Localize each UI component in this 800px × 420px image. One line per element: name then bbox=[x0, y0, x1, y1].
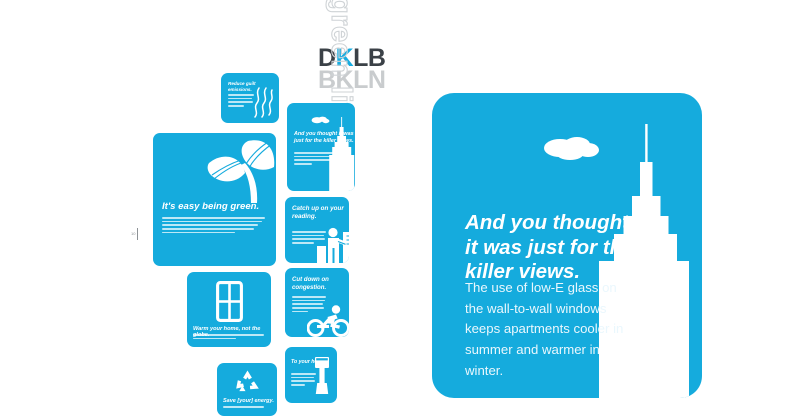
page-edge-marker: 10 bbox=[131, 228, 140, 240]
hero-body: The use of low-E glass on the wall-to-wa… bbox=[465, 278, 625, 382]
squiggle-emissions-icon bbox=[252, 84, 274, 118]
toothbrush-icon bbox=[314, 355, 330, 395]
window-icon bbox=[216, 281, 243, 322]
tile-easy-being-green[interactable]: It's easy being green. bbox=[153, 133, 276, 266]
leaf-icon bbox=[204, 133, 276, 203]
tile-save-your-energy[interactable]: Save [your] energy. bbox=[217, 363, 277, 416]
tile-body bbox=[223, 406, 271, 410]
tile-reduce-guilt-emissions[interactable]: Reduce guilt emissions. bbox=[221, 73, 279, 123]
edge-marker-number: 10 bbox=[131, 231, 135, 236]
edge-marker-rule bbox=[137, 228, 138, 240]
skyscraper-icon bbox=[326, 117, 355, 191]
hero-heading: And you thought it was just for the kill… bbox=[465, 211, 645, 285]
tile-heading: Catch up on your reading. bbox=[292, 205, 349, 221]
tile-body bbox=[162, 217, 266, 235]
tile-heading: Save [your] energy. bbox=[223, 398, 274, 404]
page-canvas: DKLB BKLN green living 10 Reduce guilt e… bbox=[0, 0, 800, 420]
tile-catch-up-reading[interactable]: Catch up on your reading. bbox=[285, 197, 349, 263]
tile-to-your-health[interactable]: To your health. bbox=[285, 347, 337, 403]
transit-reader-icon bbox=[317, 226, 349, 263]
bicycle-icon bbox=[307, 304, 349, 337]
tile-heading: It's easy being green. bbox=[162, 201, 259, 212]
tile-body bbox=[193, 334, 265, 341]
tile-cut-down-congestion[interactable]: Cut down on congestion. bbox=[285, 268, 349, 337]
tile-body bbox=[291, 373, 316, 388]
tile-heading: Cut down on congestion. bbox=[292, 276, 349, 291]
tile-body bbox=[228, 94, 254, 109]
tile-warm-your-home[interactable]: Warm your home, not the globe. bbox=[187, 272, 271, 347]
tile-killer-views-small[interactable]: And you thought it was just for the kill… bbox=[287, 103, 355, 191]
recycle-icon bbox=[235, 370, 260, 393]
hero-panel-killer-views[interactable]: And you thought it was just for the kill… bbox=[432, 93, 702, 398]
